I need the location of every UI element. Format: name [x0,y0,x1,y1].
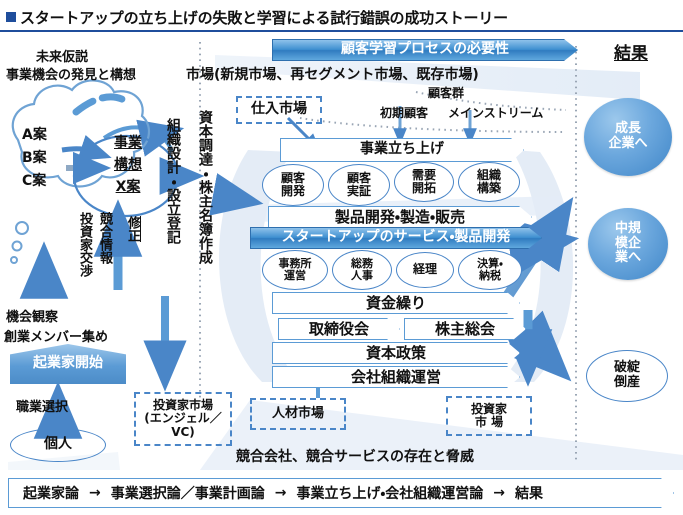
idea-item-b: B案 [22,147,47,167]
individual-label: 個人 [44,437,72,453]
business-launch-box[interactable]: 事業立ち上げ [280,138,524,162]
business-concept-line2: 構想 [100,156,156,176]
customer-learning-banner[interactable]: 顧客学習プロセスの必要性 [272,39,578,61]
talent-market-label: 人材市場 [272,407,324,422]
ellipse-office-operation-line2: 運営 [284,270,306,282]
market-header-label: 市場(新規市場、再セグメント市場、既存市場) [186,64,479,84]
ellipse-customer-development[interactable]: 顧客 開発 [262,164,324,206]
early-customer-label: 初期顧客 [380,104,428,121]
entrepreneur-start-shape[interactable]: 起業家開始 [10,344,126,384]
business-concept-line1: 事業 [100,134,156,154]
investor-negotiation-label: 投資家交渉 [78,212,91,277]
capital-policy-box[interactable]: 資本政策 [272,342,520,364]
ellipse-settlement-tax-line2: 納税 [479,270,501,282]
capital-policy-label: 資本政策 [366,345,426,362]
result-midsize-company[interactable]: 中規 模企 業へ [588,208,668,280]
result-bankruptcy[interactable]: 破綻 倒産 [586,350,668,402]
square-bullet-icon [6,12,16,22]
mainstream-label: メインストリーム [448,104,543,121]
business-launch-label: 事業立ち上げ [360,142,444,158]
capital-raise-label: 資本調達・株主名簿作成 [198,110,212,264]
ellipse-customer-validation[interactable]: 顧客 実証 [328,164,390,206]
result-midsize-company-line1: 中規 [615,222,641,237]
opportunity-observation-label: 機会観察 [6,306,58,325]
results-header: 結果 [596,44,666,66]
entrepreneur-start-label: 起業家開始 [33,356,103,372]
shareholders-meeting-label: 株主総会 [435,321,495,338]
footer-separator-0: → [89,485,101,501]
ellipse-accounting[interactable]: 経理 [396,252,454,288]
ellipse-customer-validation-line2: 実証 [347,185,371,198]
page-title-text: スタートアップの立ち上げの失敗と学習による試行錯誤の成功ストーリー [20,7,508,28]
result-growth-company-line2: 企業へ [608,137,647,152]
ellipse-customer-development-line1: 顧客 [281,172,305,185]
ellipse-demand-development[interactable]: 需要 開拓 [394,162,454,202]
startup-service-banner-label: スタートアップのサービス・製品開発 [282,230,511,246]
footer-item-2: 事業立ち上げ・会社組織運営論 [296,483,483,503]
diagram-canvas: スタートアップの立ち上げの失敗と学習による試行錯誤の成功ストーリー [0,0,683,515]
product-development-box[interactable]: 製品開発・製造・販売 [268,206,532,228]
title-divider [0,30,683,32]
idea-item-a: A案 [22,124,47,144]
result-growth-company[interactable]: 成長 企業へ [584,98,672,176]
footer-flow-bar[interactable]: 起業家論 → 事業選択論／事業計画論 → 事業立ち上げ・会社組織運営論 → 結果 [8,478,674,508]
footer-separator-2: → [493,485,505,501]
ellipse-settlement-tax[interactable]: 決算・ 納税 [458,250,522,290]
investor-market-right-line2: 市 場 [475,416,503,429]
ellipse-office-operation[interactable]: 事務所 運営 [262,250,328,290]
investor-market-line2: (エンジェル／ [144,412,222,425]
result-growth-company-line1: 成長 [615,122,641,137]
individual-node: 個人 [10,428,106,462]
founding-members-label: 創業メンバー集め [4,326,108,345]
business-opportunity-label: 事業機会の発見と構想 [6,64,136,83]
org-design-label: 組織設計・設立登記 [166,118,180,244]
company-operation-label: 会社組織運営 [351,369,441,386]
footer-item-0: 起業家論 [23,483,79,503]
revision-label: 修正 [126,216,139,242]
company-operation-box[interactable]: 会社組織運営 [272,366,520,388]
supply-market-box[interactable]: 仕入市場 [236,96,322,124]
customer-learning-banner-label: 顧客学習プロセスの必要性 [341,42,509,58]
idea-item-c: C案 [22,170,46,190]
customer-group-label: 顧客群 [428,84,464,101]
ellipse-customer-development-line2: 開発 [281,185,305,198]
ellipse-demand-development-line1: 需要 [412,169,436,182]
cash-flow-box[interactable]: 資金繰り [272,292,520,314]
investor-market-right-line1: 投資家 [471,403,507,416]
talent-market-box[interactable]: 人材市場 [250,398,346,430]
board-of-directors-box[interactable]: 取締役会 [278,318,400,340]
footer-item-3: 結果 [515,483,543,503]
shareholders-meeting-box[interactable]: 株主総会 [404,318,526,340]
ellipse-general-affairs-hr[interactable]: 総務 人事 [332,250,392,290]
page-title: スタートアップの立ち上げの失敗と学習による試行錯誤の成功ストーリー [0,4,683,30]
future-hypothesis-label: 未来仮説 [36,46,88,65]
investor-market-line3: VC) [171,426,195,439]
business-concept-line3: X案 [100,178,156,198]
product-development-label: 製品開発・製造・販売 [335,209,465,226]
board-of-directors-label: 取締役会 [309,321,369,338]
cash-flow-label: 資金繰り [366,295,426,312]
ellipse-org-building-line1: 組織 [477,169,501,182]
career-choice-label: 職業選択 [16,396,68,415]
result-midsize-company-line3: 業へ [615,251,641,266]
ellipse-customer-validation-line1: 顧客 [347,172,371,185]
footer-separator-1: → [275,485,287,501]
ellipse-general-affairs-hr-line2: 人事 [351,270,373,282]
investor-market-box[interactable]: 投資家市場 (エンジェル／ VC) [134,392,232,446]
competitor-info-label: 競合情報 [98,212,111,264]
ellipse-org-building-line2: 構築 [477,182,501,195]
footer-item-1: 事業選択論／事業計画論 [111,483,265,503]
supply-market-label: 仕入市場 [251,102,307,118]
startup-service-banner[interactable]: スタートアップのサービス・製品開発 [250,227,542,249]
result-bankruptcy-line2: 倒産 [614,376,640,391]
investor-market-right-box[interactable]: 投資家 市 場 [446,396,532,436]
result-bankruptcy-line1: 破綻 [614,361,640,376]
competition-label: 競合会社、競合サービスの存在と脅威 [190,448,520,468]
ellipse-org-building[interactable]: 組織 構築 [458,162,520,202]
ellipse-accounting-line1: 経理 [413,263,437,276]
ellipse-demand-development-line2: 開拓 [412,182,436,195]
